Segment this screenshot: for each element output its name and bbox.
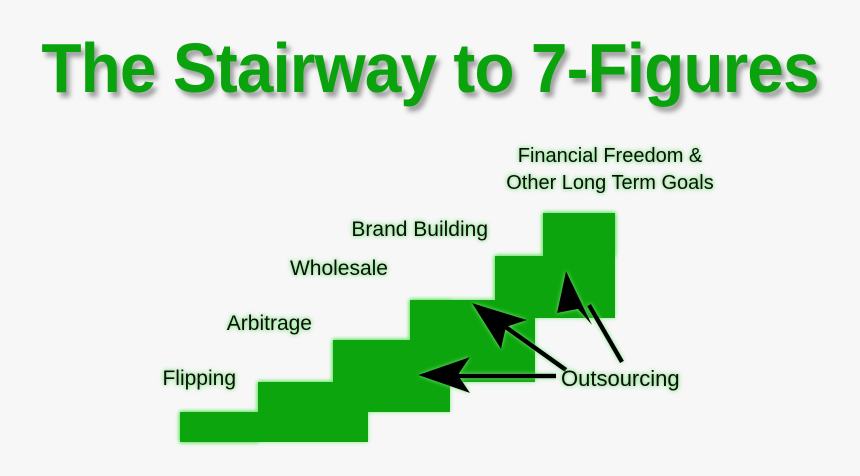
step-label-flipping: Flipping xyxy=(162,367,236,391)
top-goal-label: Financial Freedom & Other Long Term Goal… xyxy=(465,143,755,197)
top-goal-line-1: Financial Freedom & xyxy=(465,143,755,170)
tread-5 xyxy=(495,256,615,318)
step-label-arbitrage: Arbitrage xyxy=(227,312,312,336)
step-label-brand-building: Brand Building xyxy=(351,218,488,242)
step-label-wholesale: Wholesale xyxy=(290,257,388,281)
diagram-canvas: The Stairway to 7-Figures xyxy=(0,0,860,476)
top-goal-line-2: Other Long Term Goals xyxy=(465,170,755,197)
outsourcing-label: Outsourcing xyxy=(561,366,680,392)
tread-6 xyxy=(543,213,615,258)
